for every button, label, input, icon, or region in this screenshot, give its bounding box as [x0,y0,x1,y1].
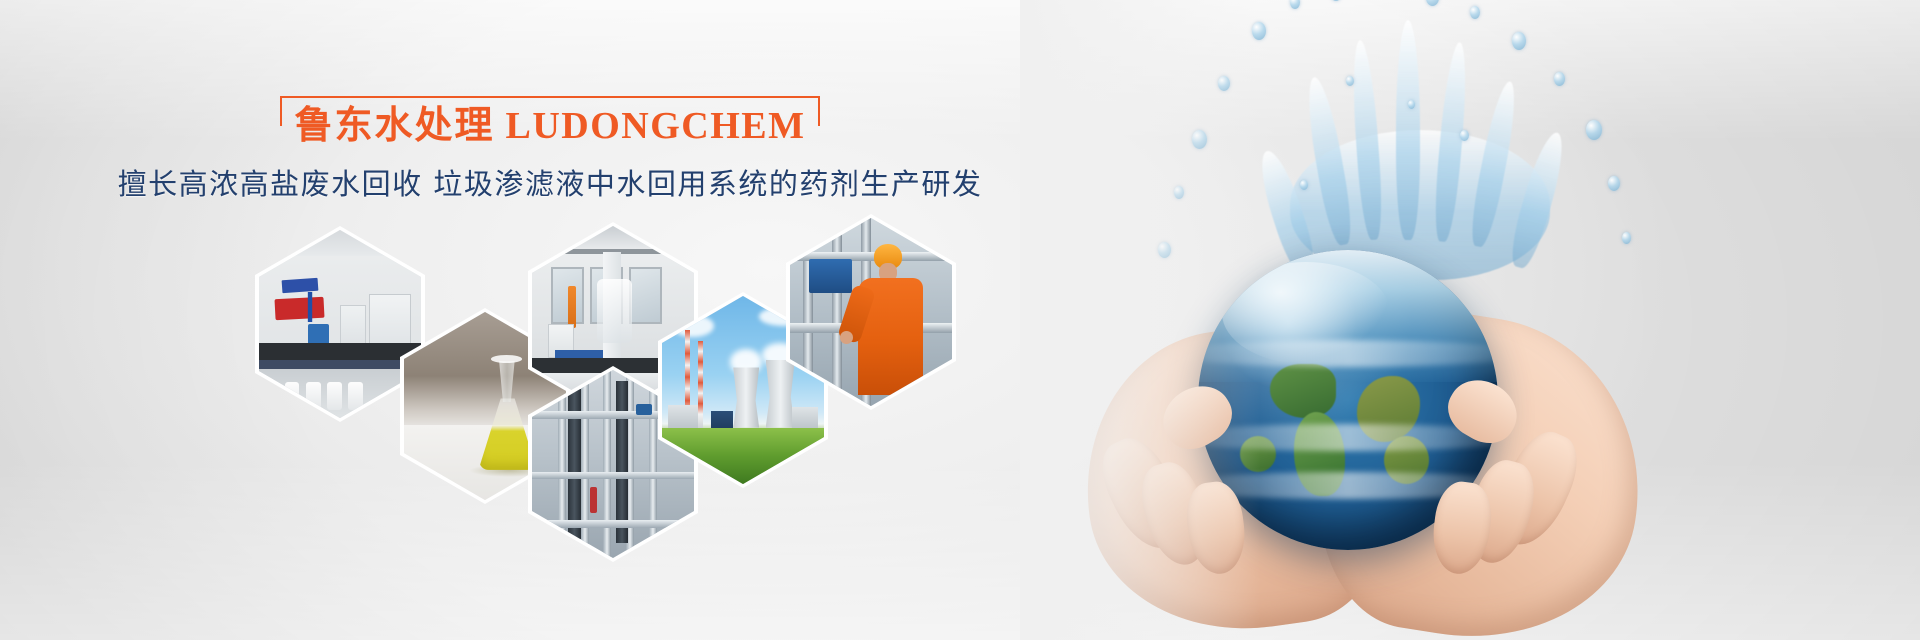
hex-tile-lab-room[interactable] [255,226,425,422]
hexagon-photo-cluster [0,0,1050,640]
promo-banner: 鲁东水处理 LUDONGCHEM 擅长高浓高盐废水回收 垃圾渗滤液中水回用系统的… [0,0,1920,640]
hex-image-lab-room [259,230,421,418]
water-globe-artwork [1020,0,1920,640]
